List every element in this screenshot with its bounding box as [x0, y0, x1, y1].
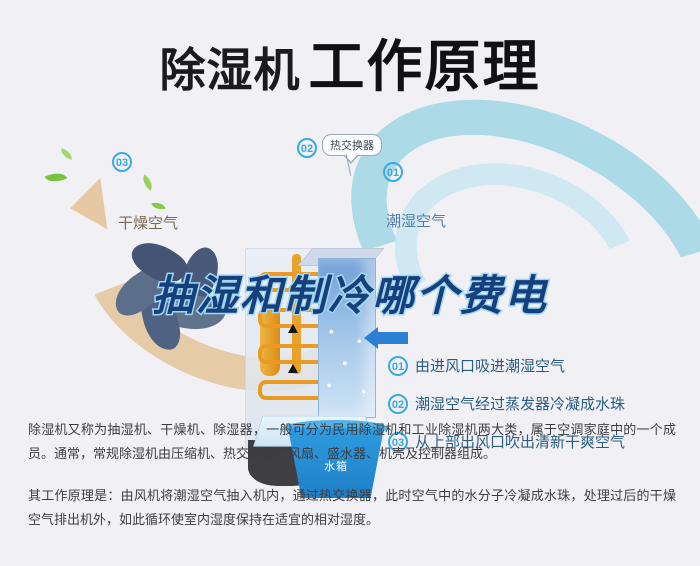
leaf-icon — [59, 148, 74, 160]
humid-air-badge: 01 — [383, 162, 403, 182]
list-item: 01 由进风口吸进潮湿空气 — [388, 355, 688, 376]
list-item: 02 潮湿空气经过蒸发器冷凝成水珠 — [388, 393, 688, 414]
dry-air-badge: 03 — [112, 152, 132, 172]
page-title-part2: 工作原理 — [309, 35, 541, 98]
badge-number: 02 — [297, 138, 317, 158]
flow-arrow-up-icon — [288, 324, 298, 333]
page-title: 除湿机工作原理 — [0, 22, 700, 103]
step-text: 潮湿空气经过蒸发器冷凝成水珠 — [415, 393, 625, 414]
page-title-part1: 除湿机 — [160, 44, 301, 96]
step-number-badge: 01 — [388, 356, 408, 376]
badge-number: 03 — [112, 152, 132, 172]
overlay-headline: 抽湿和制冷哪个费电 — [0, 262, 700, 323]
humid-air-label: 潮湿空气 — [386, 210, 446, 231]
heat-exchanger-callout: 热交换器 — [322, 134, 382, 156]
body-copy: 除湿机又称为抽湿机、干燥机、除湿器，一般可分为民用除湿机和工业除湿机两大类，属于… — [28, 418, 676, 550]
leaf-icon — [45, 168, 68, 186]
flow-arrow-up-icon — [288, 364, 298, 373]
dehumidifier-diagram: 水箱 03 干燥空气 02 热交换器 01 潮湿空气 01 由进风口吸进潮湿空气… — [0, 110, 700, 410]
dry-air-label: 干燥空气 — [118, 212, 178, 233]
badge-number: 01 — [383, 162, 403, 182]
step-text: 由进风口吸进潮湿空气 — [415, 355, 565, 376]
paragraph-2: 其工作原理是：由风机将潮湿空气抽入机内，通过热交换器，此时空气中的水分子冷凝成水… — [28, 484, 676, 532]
dry-air-arrowhead — [67, 178, 108, 234]
step-number-badge: 02 — [388, 394, 408, 414]
paragraph-1: 除湿机又称为抽湿机、干燥机、除湿器，一般可分为民用除湿机和工业除湿机两大类，属于… — [28, 418, 676, 466]
air-inlet-arrow-icon — [378, 332, 408, 344]
heat-exchanger-badge: 02 — [297, 138, 317, 158]
